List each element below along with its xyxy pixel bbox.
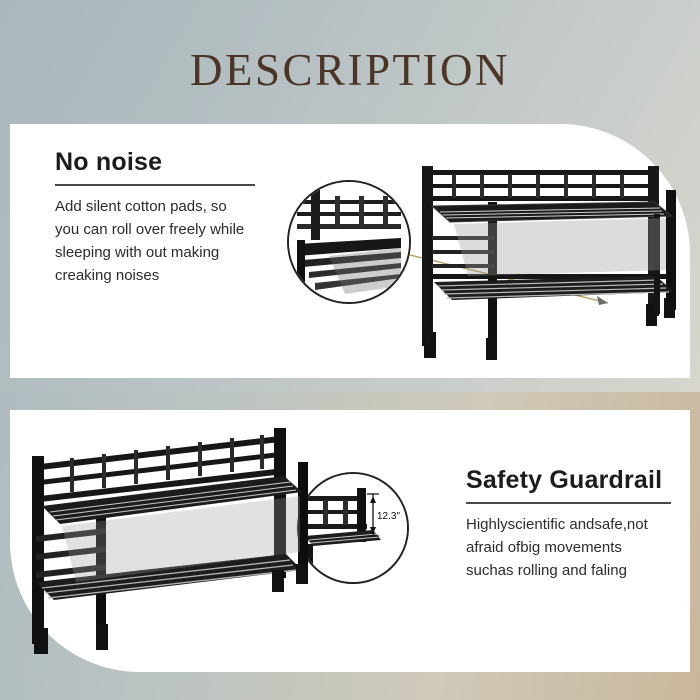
safety-guardrail-heading: Safety Guardrail (466, 466, 671, 495)
magnified-bunk-bed-slat-detail (289, 182, 409, 302)
safety-guardrail-text-block: Safety Guardrail Highlyscientific andsaf… (466, 466, 671, 582)
page-title: DESCRIPTION (0, 44, 700, 96)
guardrail-measurement-label: 12.3" (377, 511, 400, 522)
no-noise-text-block: No noise Add silent cotton pads, so you … (55, 148, 255, 287)
no-noise-detail-inset (287, 180, 411, 304)
no-noise-heading: No noise (55, 148, 255, 177)
magnified-guardrail-height-detail: 12.3" (299, 474, 407, 582)
no-noise-body: Add silent cotton pads, so you can roll … (55, 195, 255, 287)
safety-guardrail-body: Highlyscientific andsafe,not afraid ofbi… (466, 513, 671, 582)
metal-bunk-bed-angled-view (22, 418, 312, 658)
bunk-bed-image-bottom (22, 418, 312, 658)
heading-divider (466, 502, 671, 504)
metal-bunk-bed-full-view (404, 162, 680, 362)
safety-guardrail-detail-inset: 12.3" (297, 472, 409, 584)
heading-divider (55, 184, 255, 186)
bunk-bed-image-top (404, 162, 680, 362)
